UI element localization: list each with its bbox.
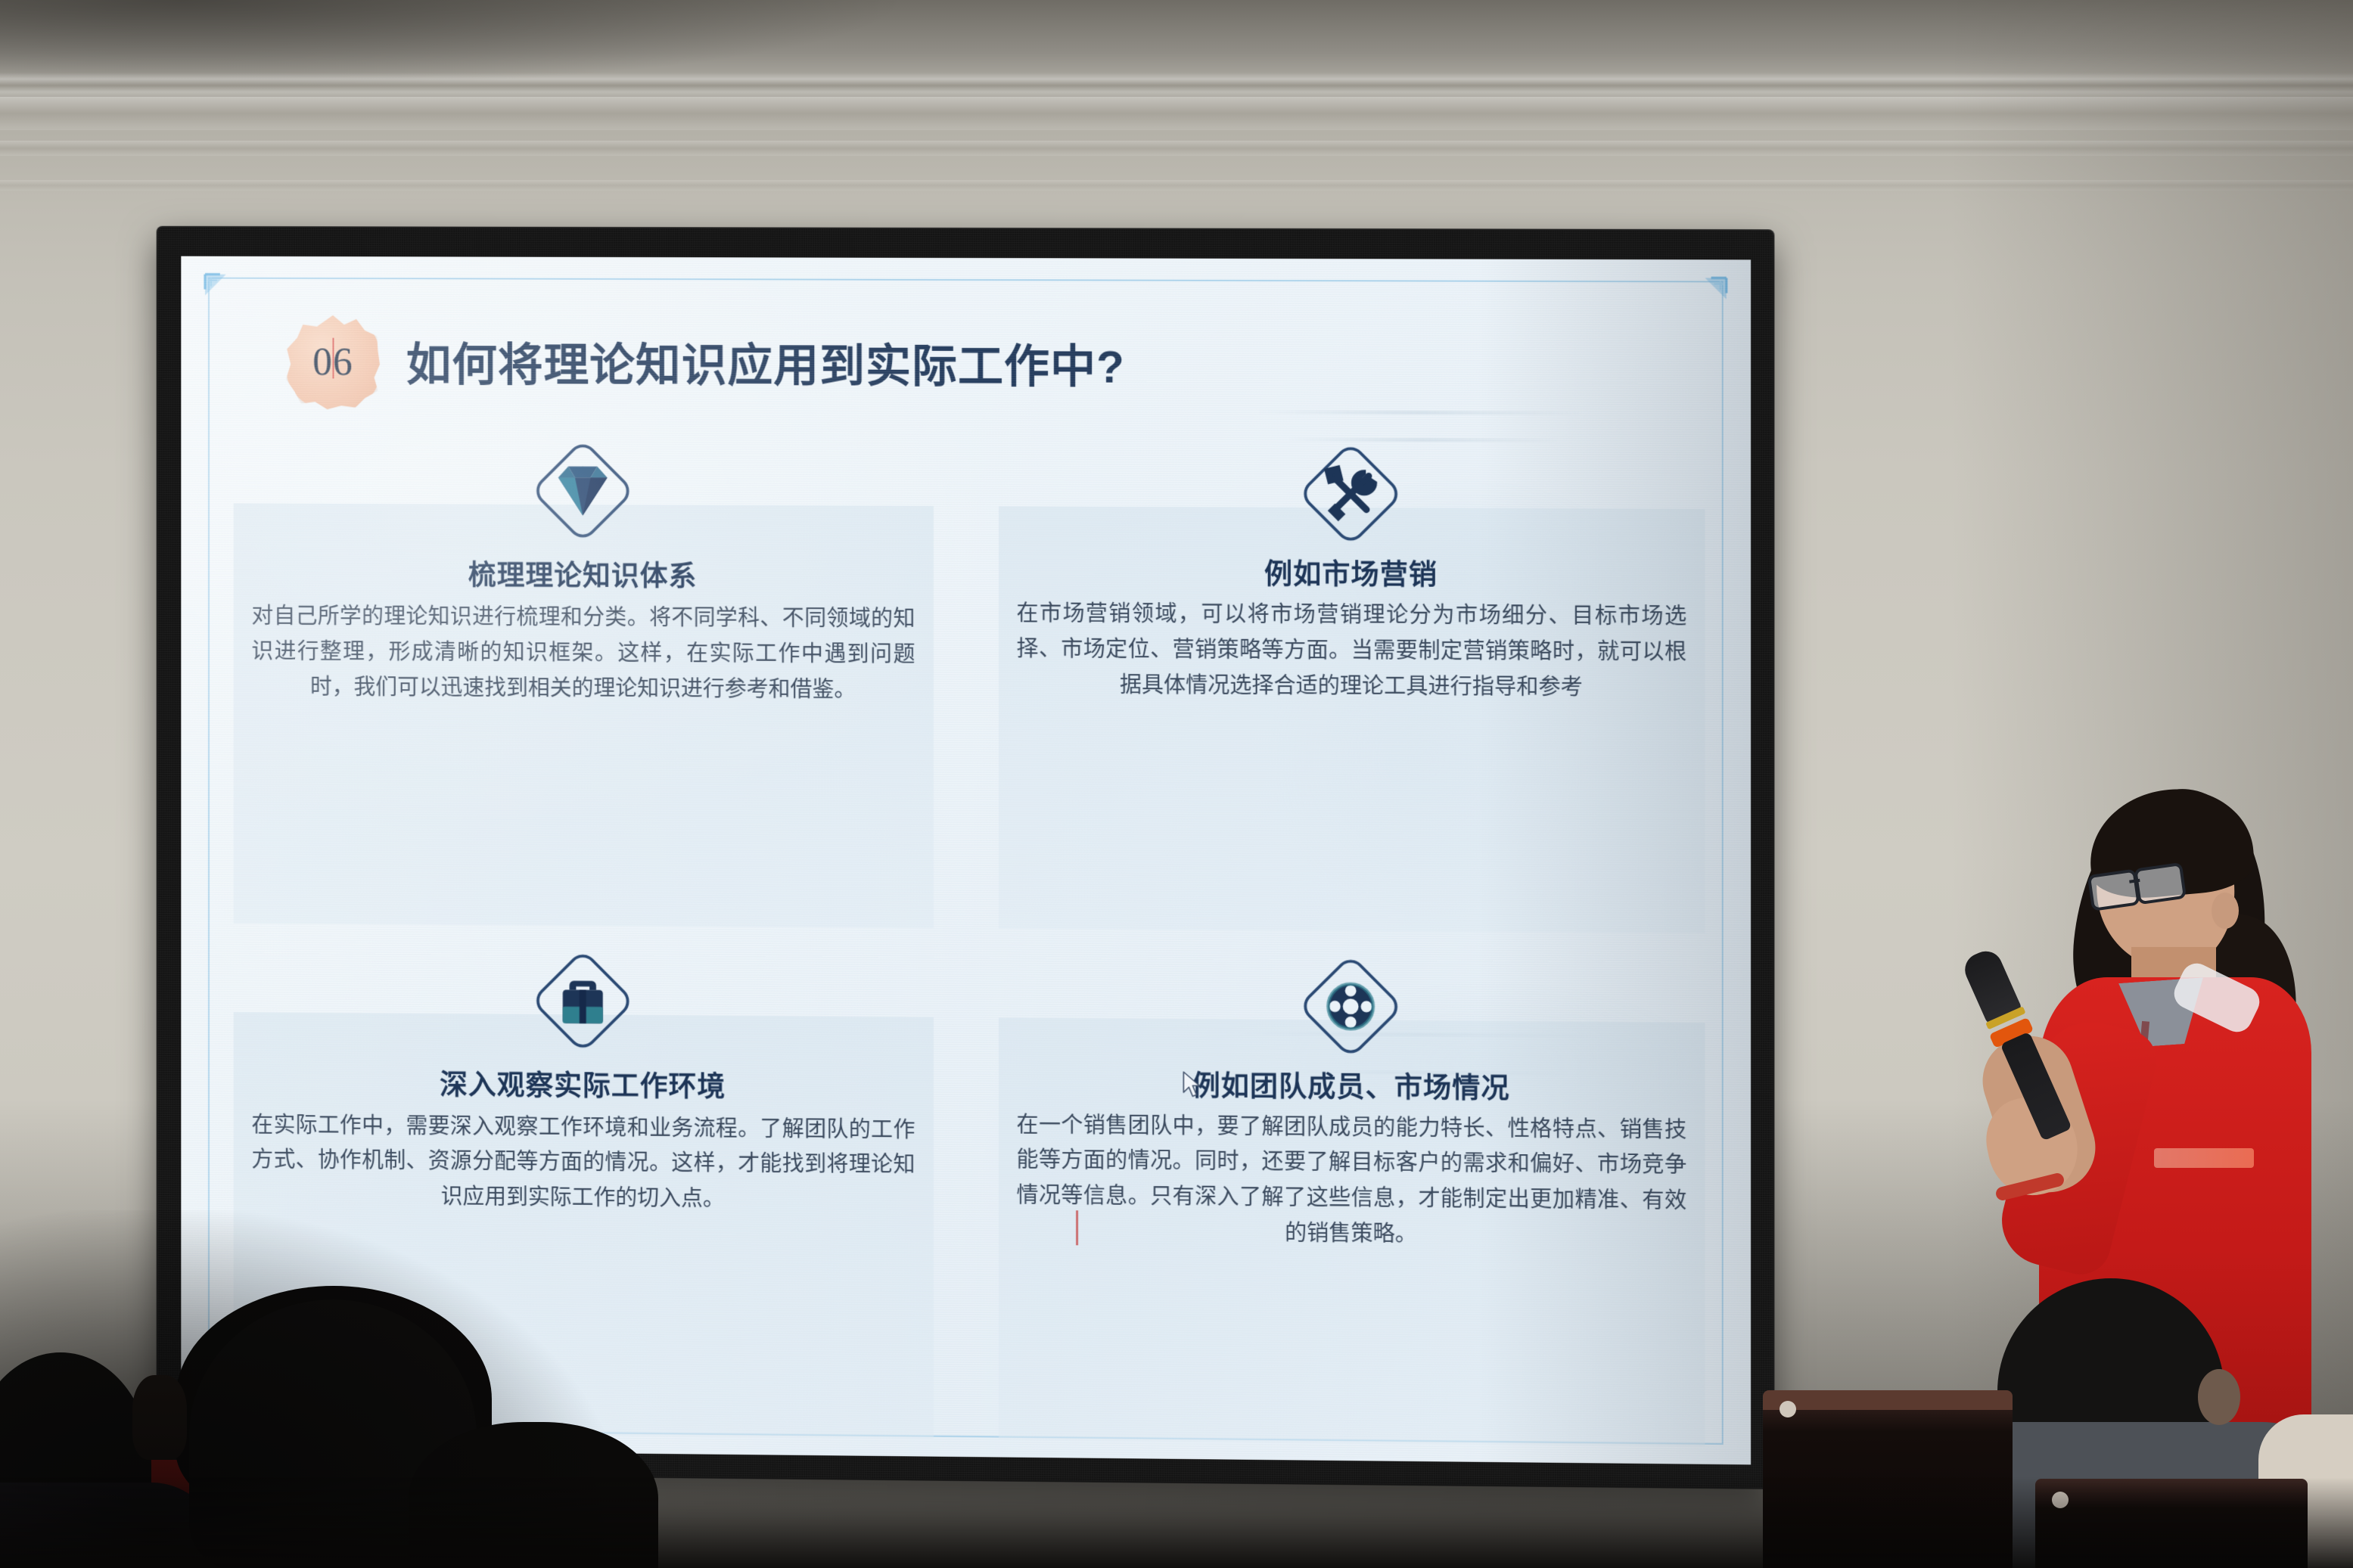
corner-ornament-icon — [204, 273, 245, 315]
card-body-text: 在一个销售团队中，要了解团队成员的能力特长、性格特点、销售技能等方面的情况。同时… — [1017, 1107, 1687, 1255]
glasses-lens-right — [2134, 862, 2187, 905]
card-body-text: 在实际工作中，需要深入观察工作环境和业务流程。了解团队的工作方式、协作机制、资源… — [251, 1107, 915, 1219]
section-number-badge: 06 — [286, 315, 380, 410]
foreground-shadow-bottom — [0, 1477, 2353, 1568]
card-item: 梳理理论知识体系 对自己所学的理论知识进行梳理和分类。将不同学科、不同领域的知识… — [234, 437, 934, 928]
text-caret — [1076, 1210, 1078, 1245]
card-item: 例如团队成员、市场情况 在一个销售团队中，要了解团队成员的能力特长、性格特点、销… — [999, 951, 1705, 1446]
wrench-screwdriver-icon — [1295, 438, 1407, 551]
card-heading: 例如团队成员、市场情况 — [999, 1061, 1705, 1107]
card-item: 例如市场营销 在市场营销领域，可以将市场营销理论分为市场细分、目标市场选择、市场… — [999, 439, 1705, 933]
glasses-lens-left — [2087, 868, 2140, 911]
card-heading: 例如市场营销 — [999, 550, 1705, 594]
presentation-room-scene: 06 如何将理论知识应用到实际工作中? — [0, 0, 2353, 1568]
slide-title: 如何将理论知识应用到实际工作中? — [406, 328, 1125, 396]
audience-member-ear — [2198, 1369, 2240, 1425]
card-body-text: 对自己所学的理论知识进行梳理和分类。将不同学科、不同领域的知识进行整理，形成清晰… — [251, 598, 915, 708]
auditorium-chair-top-rail — [1763, 1390, 2013, 1410]
mouse-cursor-icon — [1182, 1070, 1201, 1099]
lifebuoy-icon — [1295, 949, 1407, 1062]
card-body-text: 在市场营销领域，可以将市场营销理论分为市场细分、目标市场选择、市场定位、营销策略… — [1017, 595, 1687, 706]
card-heading: 深入观察实际工作环境 — [234, 1060, 934, 1106]
briefcase-icon — [527, 945, 638, 1057]
card-heading: 梳理理论知识体系 — [234, 551, 934, 595]
section-number: 06 — [286, 315, 380, 410]
presenter-shirt-logo — [2154, 1148, 2254, 1168]
auditorium-chair-knob — [1780, 1401, 1796, 1417]
diamond-gem-icon — [527, 435, 638, 547]
presenter-ear — [2212, 893, 2239, 929]
corner-ornament-icon — [1685, 276, 1728, 318]
